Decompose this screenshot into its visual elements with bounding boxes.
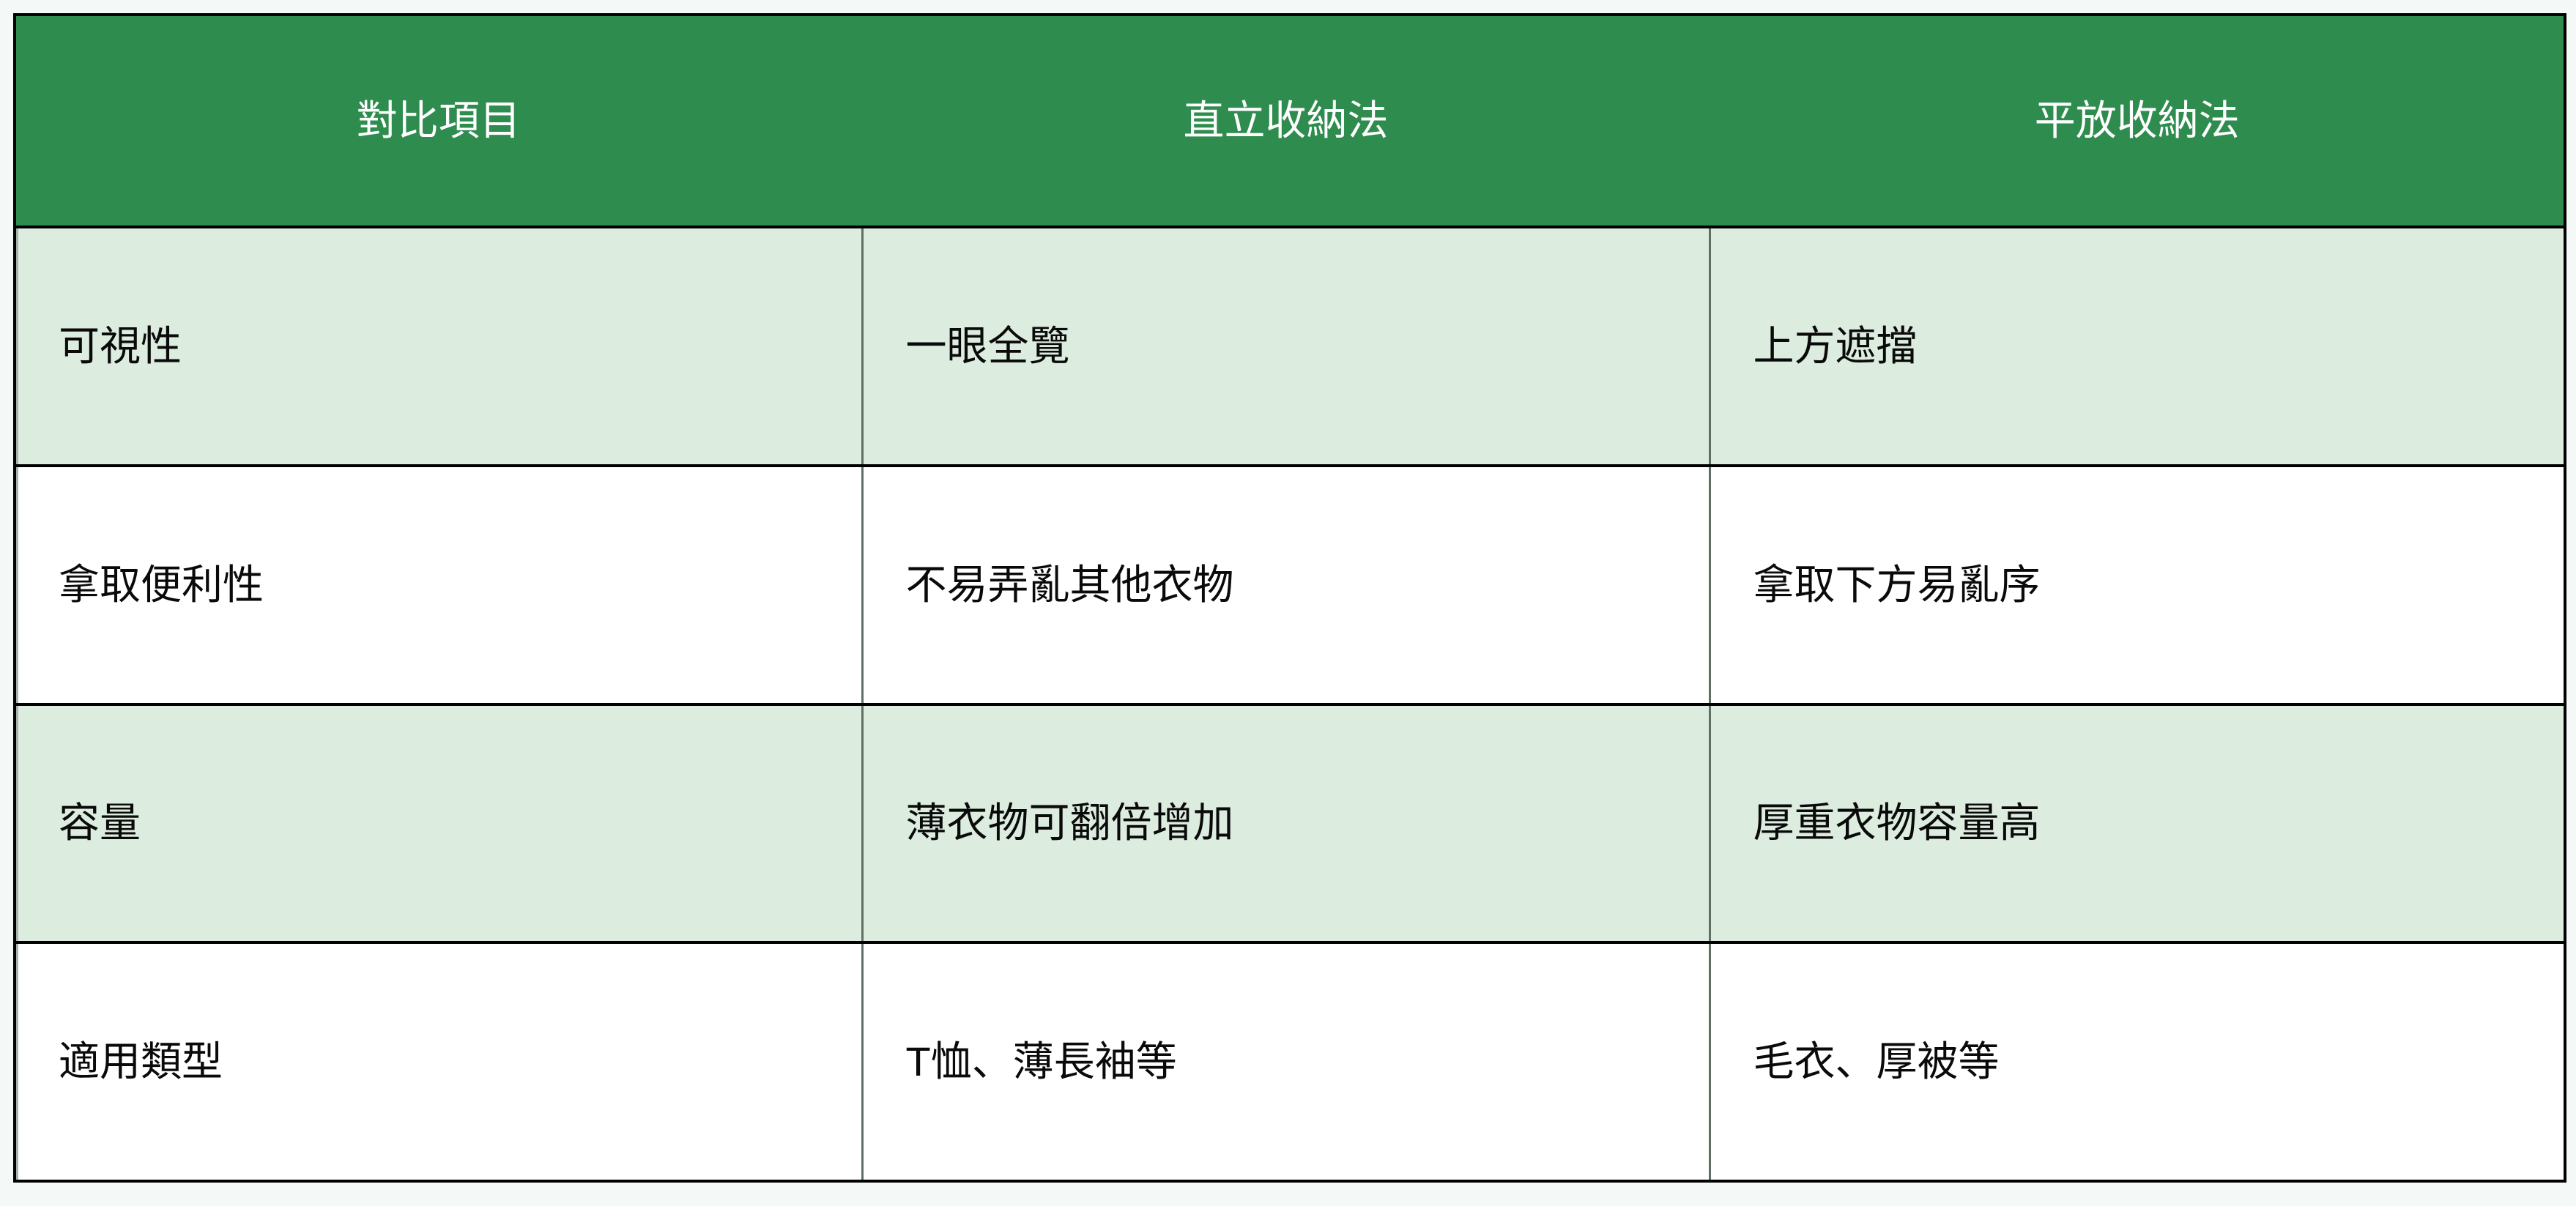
table-row: 可視性 一眼全覽 上方遮擋 bbox=[15, 227, 2565, 466]
table-row: 適用類型 T恤、薄長袖等 毛衣、厚被等 bbox=[15, 942, 2565, 1181]
cell-vertical-method: T恤、薄長袖等 bbox=[862, 942, 1710, 1181]
column-header-flat-method: 平放收納法 bbox=[1710, 15, 2565, 227]
cell-flat-method: 拿取下方易亂序 bbox=[1710, 466, 2565, 704]
cell-criteria: 拿取便利性 bbox=[15, 466, 862, 704]
cell-vertical-method: 薄衣物可翻倍增加 bbox=[862, 704, 1710, 943]
cell-criteria: 容量 bbox=[15, 704, 862, 943]
column-header-criteria: 對比項目 bbox=[15, 15, 862, 227]
cell-criteria: 可視性 bbox=[15, 227, 862, 466]
column-header-vertical-method: 直立收納法 bbox=[862, 15, 1710, 227]
cell-vertical-method: 不易弄亂其他衣物 bbox=[862, 466, 1710, 704]
cell-criteria: 適用類型 bbox=[15, 942, 862, 1181]
cell-flat-method: 毛衣、厚被等 bbox=[1710, 942, 2565, 1181]
comparison-table: 對比項目 直立收納法 平放收納法 可視性 一眼全覽 上方遮擋 拿取便利性 不易弄… bbox=[13, 13, 2566, 1183]
cell-flat-method: 上方遮擋 bbox=[1710, 227, 2565, 466]
comparison-table-container: 對比項目 直立收納法 平放收納法 可視性 一眼全覽 上方遮擋 拿取便利性 不易弄… bbox=[13, 13, 2564, 1183]
table-body: 可視性 一眼全覽 上方遮擋 拿取便利性 不易弄亂其他衣物 拿取下方易亂序 容量 … bbox=[15, 227, 2565, 1181]
table-row: 拿取便利性 不易弄亂其他衣物 拿取下方易亂序 bbox=[15, 466, 2565, 704]
cell-flat-method: 厚重衣物容量高 bbox=[1710, 704, 2565, 943]
cell-vertical-method: 一眼全覽 bbox=[862, 227, 1710, 466]
table-header-row: 對比項目 直立收納法 平放收納法 bbox=[15, 15, 2565, 227]
table-header: 對比項目 直立收納法 平放收納法 bbox=[15, 15, 2565, 227]
table-row: 容量 薄衣物可翻倍增加 厚重衣物容量高 bbox=[15, 704, 2565, 943]
